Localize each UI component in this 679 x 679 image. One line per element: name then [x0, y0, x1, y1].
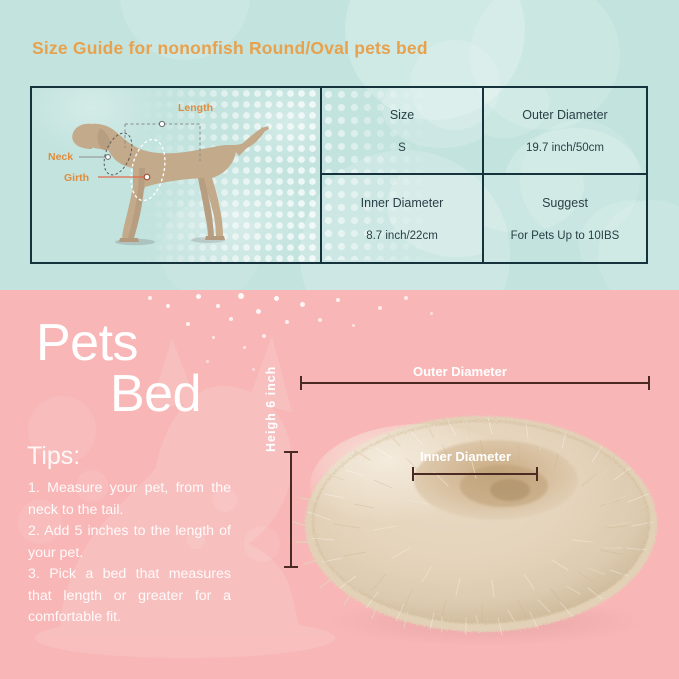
- dog-diagram: Length Neck Girth: [32, 88, 322, 262]
- height-label: Heigh 6 inch: [264, 342, 278, 452]
- size-spec-table: Length Neck Girth: [30, 86, 648, 264]
- size-guide-panel: Size Guide for nononfish Round/Oval pets…: [0, 0, 679, 290]
- spec-header: Outer Diameter: [522, 108, 607, 122]
- spec-value: 19.7 inch/50cm: [526, 142, 604, 154]
- tip-item: 3. Pick a bed that measures that length …: [28, 564, 231, 629]
- inner-diameter-cap-left: [412, 467, 414, 481]
- diagram-label-length: Length: [178, 102, 213, 114]
- inner-diameter-label: Inner Diameter: [420, 449, 511, 464]
- length-anchor-dot: [159, 121, 164, 126]
- page-title: Size Guide for nononfish Round/Oval pets…: [32, 38, 428, 59]
- height-cap-top: [284, 451, 298, 453]
- cell-texture: [322, 88, 482, 173]
- height-cap-bottom: [284, 566, 298, 568]
- tips-heading: Tips:: [27, 442, 80, 471]
- pet-bed-product-image: [300, 408, 662, 650]
- neck-anchor-dot: [106, 155, 111, 160]
- spec-cell-inner-diameter: Inner Diameter 8.7 inch/22cm: [322, 175, 484, 262]
- pets-bed-panel: Pets Bed Tips: 1. Measure your pet, from…: [0, 290, 679, 679]
- outer-diameter-cap-right: [648, 376, 650, 390]
- cell-texture: [484, 88, 646, 173]
- diagram-label-neck: Neck: [48, 151, 73, 163]
- height-line: [290, 451, 292, 568]
- spec-header: Suggest: [542, 196, 588, 210]
- title-line-2: Bed: [36, 369, 201, 420]
- girth-anchor-dot: [144, 174, 150, 180]
- diagram-label-girth: Girth: [64, 172, 89, 184]
- dog-measurement-diagram-cell: Length Neck Girth: [32, 88, 322, 262]
- pets-bed-title: Pets Bed: [36, 318, 201, 420]
- spec-value: S: [398, 142, 406, 154]
- product-size-guide-infographic: Size Guide for nononfish Round/Oval pets…: [0, 0, 679, 679]
- spec-header: Inner Diameter: [361, 196, 444, 210]
- tips-list: 1. Measure your pet, from the neck to th…: [28, 478, 231, 629]
- tip-item: 2. Add 5 inches to the length of your pe…: [28, 521, 231, 564]
- outer-diameter-cap-left: [300, 376, 302, 390]
- spec-cell-grid: Size S Outer Diameter 19.7 inch/50cm: [322, 88, 646, 262]
- spec-value: For Pets Up to 10IBS: [511, 230, 620, 242]
- cell-texture: [484, 175, 646, 262]
- spec-cell-size: Size S: [322, 88, 484, 175]
- tip-item: 1. Measure your pet, from the neck to th…: [28, 478, 231, 521]
- spec-header: Size: [390, 108, 414, 122]
- inner-diameter-cap-right: [536, 467, 538, 481]
- spec-cell-suggest: Suggest For Pets Up to 10IBS: [484, 175, 646, 262]
- spec-cell-outer-diameter: Outer Diameter 19.7 inch/50cm: [484, 88, 646, 175]
- inner-diameter-line: [412, 473, 538, 475]
- spec-value: 8.7 inch/22cm: [366, 230, 438, 242]
- outer-diameter-line: [300, 382, 650, 384]
- outer-diameter-label: Outer Diameter: [413, 364, 507, 379]
- title-line-1: Pets: [36, 314, 138, 372]
- cell-texture: [322, 175, 482, 262]
